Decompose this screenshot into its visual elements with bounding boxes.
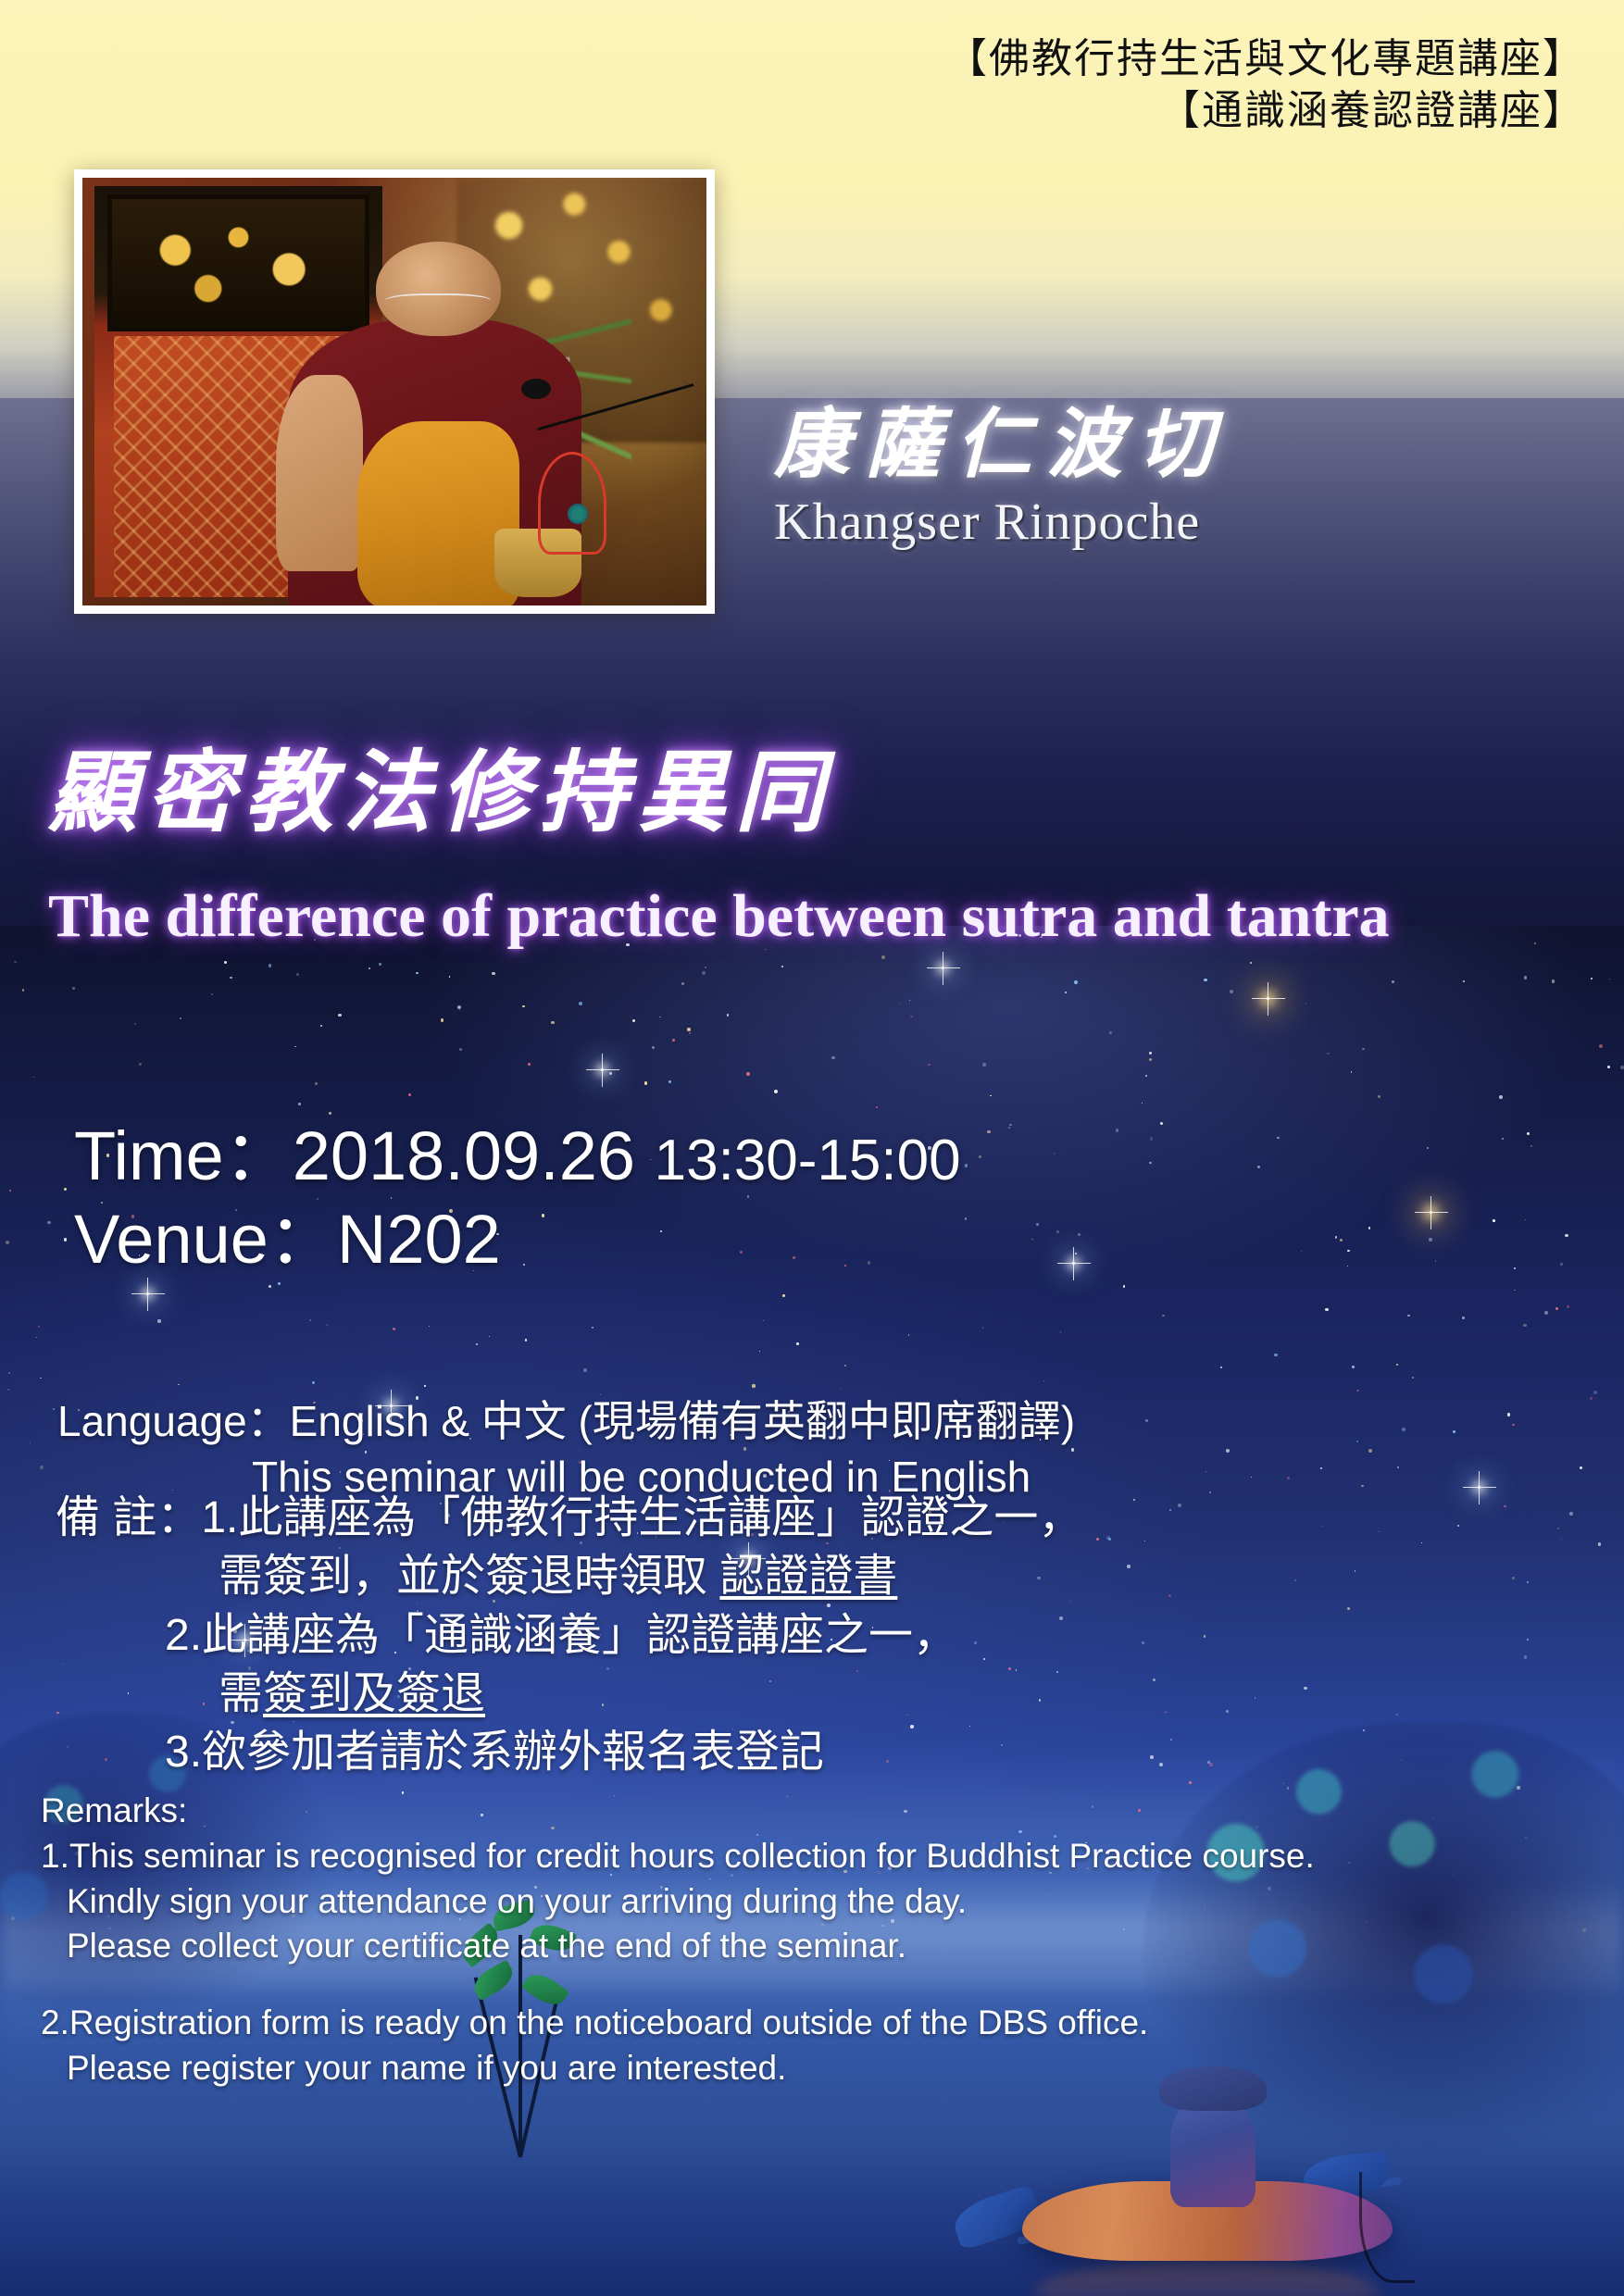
time-separator: ：: [224, 1117, 293, 1194]
speaker-photo-frame: [74, 169, 715, 614]
event-venue-line: Venue：N202: [74, 1198, 961, 1281]
remarks-cn-certificate-underlined: 認證證書: [719, 1552, 897, 1601]
speaker-photo: [82, 178, 706, 605]
remarks-en-item-2-line-2: Please register your name if you are int…: [41, 2046, 1315, 2091]
remarks-cn-signin-underlined: 簽到及簽退: [263, 1669, 485, 1718]
venue-label: Venue: [74, 1201, 269, 1278]
time-date: 2018.09.26: [293, 1117, 635, 1194]
photo-monk-arm: [276, 375, 363, 572]
series-header-line-1: 【佛教行持生活與文化專題講座】: [946, 33, 1585, 85]
remarks-en-item-1-line-2: Kindly sign your attendance on your arri…: [41, 1879, 1315, 1925]
kayak-reflection: [1035, 2261, 1378, 2296]
photo-monk-glasses: [385, 293, 492, 310]
remarks-cn-item-2-pre: 需: [219, 1669, 263, 1718]
venue-separator: ：: [269, 1201, 337, 1278]
remarks-cn-item-1-line-2: 需簽到，並於簽退時領取 認證證書: [56, 1547, 1082, 1605]
photo-gold-carving: [107, 194, 369, 331]
remarks-en-spacer: [41, 1969, 1315, 2001]
photo-monk-head: [376, 242, 501, 336]
remarks-en-item-1-line-1: 1.This seminar is recognised for credit …: [41, 1834, 1315, 1879]
remarks-cn-item-1-pre: 需簽到，並於簽退時領取: [219, 1552, 719, 1601]
language-line-1: Language：English & 中文 (現場備有英翻中即席翻譯): [57, 1397, 1075, 1445]
kayaker-torso: [1170, 2096, 1255, 2207]
poster: 【佛教行持生活與文化專題講座】 【通識涵養認證講座】 康薩仁波切 Khangs: [0, 0, 1624, 2296]
time-range: 13:30-15:00: [655, 1129, 961, 1192]
speaker-name-block: 康薩仁波切 Khangser Rinpoche: [774, 405, 1228, 552]
remarks-cn-item-2-line-1: 2.此講座為「通識涵養」認證講座之一，: [56, 1606, 1082, 1665]
hook-silhouette: [1359, 2172, 1415, 2283]
event-details: Time：2018.09.26 13:30-15:00 Venue：N202: [74, 1115, 961, 1282]
event-time-line: Time：2018.09.26 13:30-15:00: [74, 1115, 961, 1198]
time-label: Time: [74, 1117, 224, 1194]
remarks-cn-item-1-text: 1.此講座為「佛教行持生活講座」認證之一，: [201, 1493, 1082, 1542]
venue-value: N202: [337, 1201, 501, 1278]
photo-peacock-feather-ring: [538, 452, 606, 555]
series-header: 【佛教行持生活與文化專題講座】 【通識涵養認證講座】: [946, 33, 1585, 138]
remarks-cn-item-3: 3.欲參加者請於系辦外報名表登記: [56, 1723, 1082, 1781]
remarks-cn-item-1-line-1: 備 註：1.此講座為「佛教行持生活講座」認證之一，: [56, 1489, 1082, 1547]
remarks-english-block: Remarks: 1.This seminar is recognised fo…: [41, 1789, 1315, 2091]
series-header-line-2: 【通識涵養認證講座】: [946, 85, 1585, 137]
lecture-title-chinese: 顯密教法修持異同: [48, 720, 833, 849]
speaker-name-chinese: 康薩仁波切: [774, 405, 1228, 487]
remarks-en-heading: Remarks:: [41, 1789, 1315, 1834]
speaker-name-english: Khangser Rinpoche: [774, 493, 1228, 552]
remarks-chinese-block: 備 註：1.此講座為「佛教行持生活講座」認證之一， 需簽到，並於簽退時領取 認證…: [56, 1489, 1082, 1782]
remarks-en-item-2-line-1: 2.Registration form is ready on the noti…: [41, 2001, 1315, 2046]
remarks-cn-item-2-line-2: 需簽到及簽退: [56, 1665, 1082, 1723]
remarks-cn-label: 備 註：: [56, 1493, 201, 1542]
remarks-en-item-1-line-3: Please collect your certificate at the e…: [41, 1924, 1315, 1969]
lecture-title-english: The difference of practice between sutra…: [48, 881, 1390, 952]
microphone-icon: [521, 379, 551, 399]
